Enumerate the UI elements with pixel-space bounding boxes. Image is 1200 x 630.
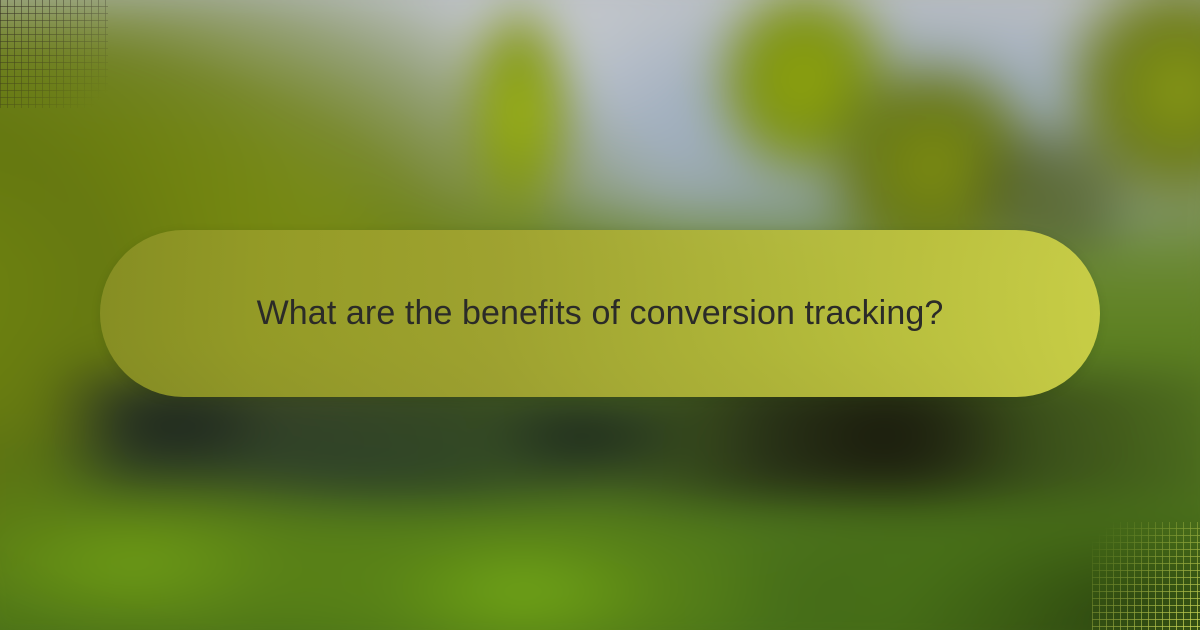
background-foliage-blob: [1061, 0, 1200, 223]
background-grass-shade: [882, 528, 1200, 630]
background-grass-highlight: [267, 500, 779, 630]
question-banner: What are the benefits of conversion trac…: [0, 0, 1200, 630]
background-foliage-blob: [446, 0, 587, 230]
background-dark-object: [472, 386, 702, 485]
question-title: What are the benefits of conversion trac…: [257, 293, 944, 334]
question-pill: What are the benefits of conversion trac…: [100, 230, 1100, 397]
